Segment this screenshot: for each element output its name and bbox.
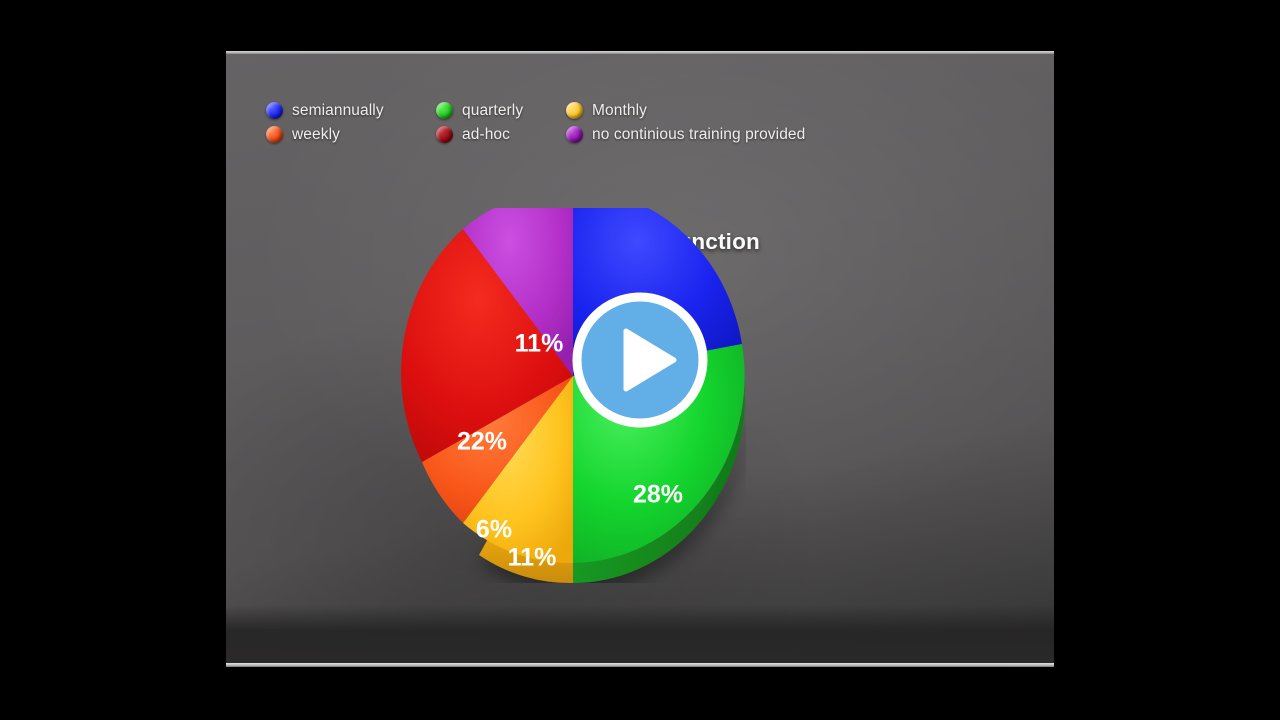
legend-item-monthly: Monthly xyxy=(566,102,866,120)
legend-label: Monthly xyxy=(592,102,647,120)
legend-label: ad-hoc xyxy=(462,126,510,144)
legend-dot-icon xyxy=(436,126,453,143)
legend-item-semiannually: semiannually xyxy=(266,102,436,120)
legend-label: weekly xyxy=(292,126,340,144)
legend-dot-icon xyxy=(566,102,583,119)
legend-row: semiannually quarterly Monthly xyxy=(266,99,926,122)
slide-top-edge xyxy=(226,51,1054,54)
pie-label-ad-hoc: 22% xyxy=(457,428,507,456)
legend-item-quarterly: quarterly xyxy=(436,102,566,120)
slide-bottom-edge xyxy=(226,605,1054,663)
pie-label-quarterly: 28% xyxy=(633,481,683,509)
pie-label-monthly: 11% xyxy=(508,544,557,572)
legend-dot-icon xyxy=(436,102,453,119)
legend-label: no continious training provided xyxy=(592,126,805,144)
legend-item-weekly: weekly xyxy=(266,126,436,144)
legend-item-ad-hoc: ad-hoc xyxy=(436,126,566,144)
play-button[interactable] xyxy=(570,290,710,430)
video-player[interactable]: semiannually quarterly Monthly weekly xyxy=(0,0,1280,720)
legend-label: semiannually xyxy=(292,102,384,120)
legend-label: quarterly xyxy=(462,102,523,120)
pie-label-no-continuous-training: 11% xyxy=(515,330,564,358)
player-base-line xyxy=(226,663,1054,667)
legend-dot-icon xyxy=(266,102,283,119)
legend-item-no-continuous-training: no continious training provided xyxy=(566,126,866,144)
pie-label-weekly: 6% xyxy=(476,516,512,544)
legend-row: weekly ad-hoc no continious training pro… xyxy=(266,123,926,146)
chart-legend: semiannually quarterly Monthly weekly xyxy=(266,99,926,147)
legend-dot-icon xyxy=(566,126,583,143)
legend-dot-icon xyxy=(266,126,283,143)
